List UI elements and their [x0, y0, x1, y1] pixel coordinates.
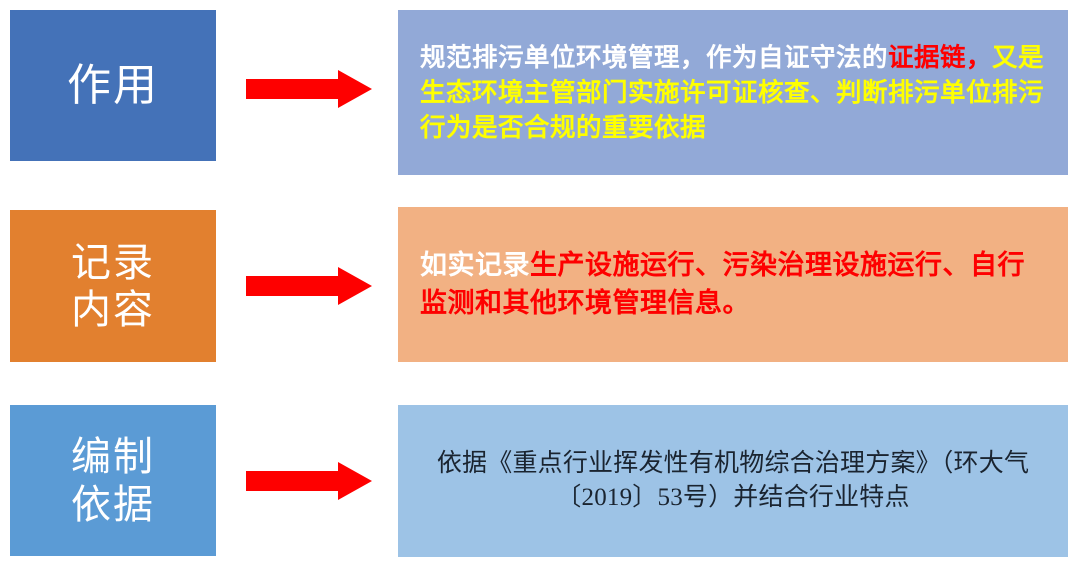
content-box-basis: 依据《重点行业挥发性有机物综合治理方案》（环大气〔2019〕53号）并结合行业特…: [398, 405, 1068, 557]
diagram-canvas: 作用 规范排污单位环境管理，作为自证守法的证据链，又是生态环境主管部门实施许可证…: [0, 0, 1080, 579]
content-box-basis-text: 依据《重点行业挥发性有机物综合治理方案》（环大气〔2019〕53号）并结合行业特…: [420, 447, 1046, 516]
right-arrow-icon: [246, 462, 372, 500]
label-box-record-content: 记录 内容: [10, 210, 216, 362]
content-box-record-content-text: 如实记录生产设施运行、污染治理设施运行、自行监测和其他环境管理信息。: [420, 247, 1046, 322]
content-segment-dark: 依据《重点行业挥发性有机物综合治理方案》（环大气〔2019〕53号）并结合行业特…: [437, 450, 1029, 512]
content-segment-red: 证据链，: [888, 43, 992, 72]
content-box-purpose: 规范排污单位环境管理，作为自证守法的证据链，又是生态环境主管部门实施许可证核查、…: [398, 10, 1068, 175]
label-box-purpose-text: 作用: [67, 60, 159, 112]
label-box-record-content-text: 记录 内容: [71, 239, 155, 333]
label-box-basis: 编制 依据: [10, 405, 216, 556]
right-arrow-icon: [246, 70, 372, 108]
label-box-purpose: 作用: [10, 10, 216, 161]
diagram-row-purpose: 作用 规范排污单位环境管理，作为自证守法的证据链，又是生态环境主管部门实施许可证…: [0, 0, 1080, 195]
content-segment-white: 规范排污单位环境管理，作为自证守法的: [420, 43, 888, 72]
content-box-purpose-text: 规范排污单位环境管理，作为自证守法的证据链，又是生态环境主管部门实施许可证核查、…: [420, 40, 1046, 146]
diagram-row-basis: 编制 依据 依据《重点行业挥发性有机物综合治理方案》（环大气〔2019〕53号）…: [0, 390, 1080, 579]
right-arrow-icon: [246, 267, 372, 305]
content-box-record-content: 如实记录生产设施运行、污染治理设施运行、自行监测和其他环境管理信息。: [398, 207, 1068, 362]
diagram-row-record-content: 记录 内容 如实记录生产设施运行、污染治理设施运行、自行监测和其他环境管理信息。: [0, 195, 1080, 390]
label-box-basis-text: 编制 依据: [71, 433, 155, 527]
content-segment-white: 如实记录: [420, 250, 530, 280]
